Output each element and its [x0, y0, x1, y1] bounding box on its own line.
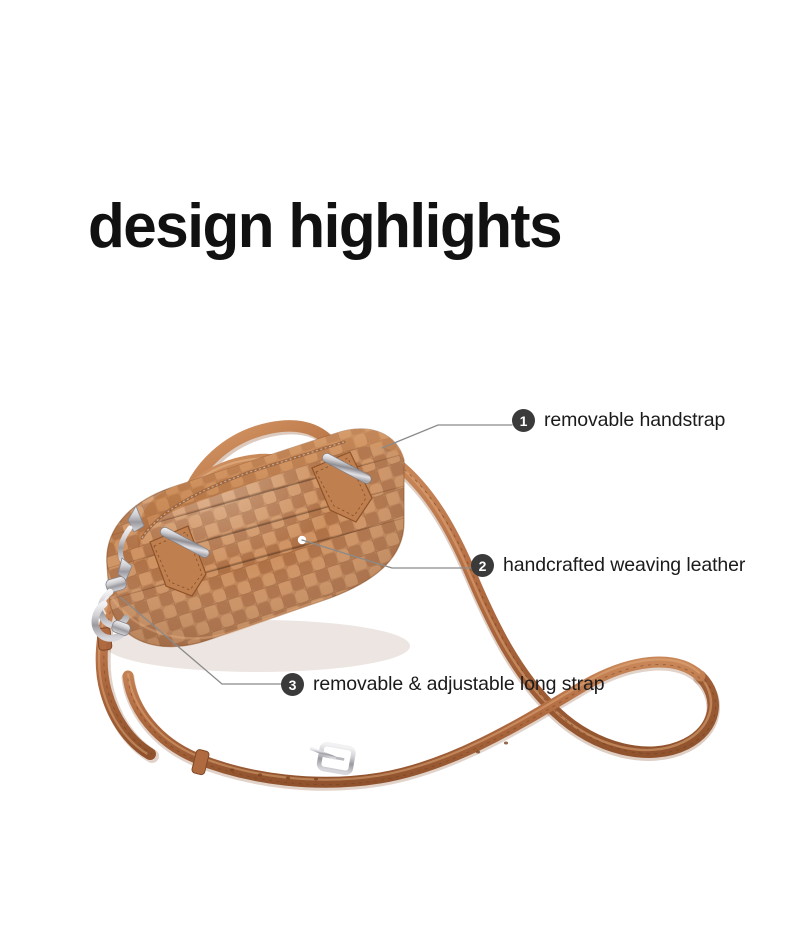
- callout-2-badge: 2: [471, 554, 494, 577]
- page-title: design highlights: [88, 196, 561, 258]
- callout-3[interactable]: 3 removable & adjustable long strap: [281, 673, 605, 696]
- callout-1-label: removable handstrap: [544, 409, 725, 432]
- callout-3-badge: 3: [281, 673, 304, 696]
- callout-3-label: removable & adjustable long strap: [313, 673, 605, 696]
- adjustable-buckle: [308, 742, 354, 774]
- bag-body: [90, 415, 430, 672]
- callout-2[interactable]: 2 handcrafted weaving leather: [471, 554, 745, 577]
- callout-1-badge: 1: [512, 409, 535, 432]
- infographic-canvas: design highlights: [0, 0, 790, 934]
- weave-anchor-dot: [298, 536, 306, 544]
- callout-2-label: handcrafted weaving leather: [503, 554, 745, 577]
- callout-1[interactable]: 1 removable handstrap: [512, 409, 725, 432]
- product-photo-handbag: [0, 360, 790, 860]
